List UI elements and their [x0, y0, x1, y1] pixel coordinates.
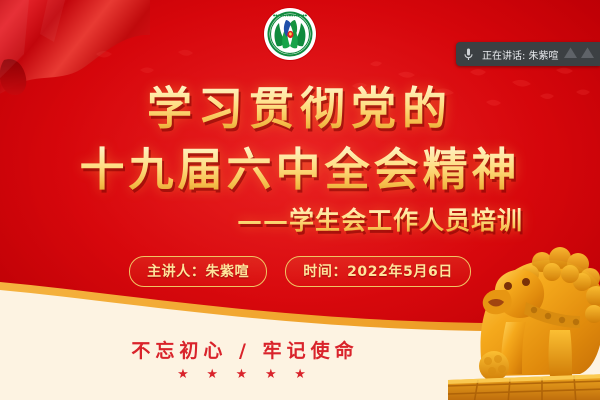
microphone-icon	[456, 48, 480, 61]
school-emblem-logo: ●●●●●●●●●●●●●●● 2002	[262, 6, 318, 62]
speaking-label: 正在讲话: 朱紫喧	[480, 47, 563, 62]
svg-text:●●●●●●●●●●●●●●●: ●●●●●●●●●●●●●●●	[273, 14, 308, 17]
svg-text:2002: 2002	[286, 52, 295, 56]
speaker-pill: 主讲人：朱紫喧	[129, 256, 267, 287]
active-speaker-overlay[interactable]: 正在讲话: 朱紫喧	[456, 42, 600, 66]
date-pill: 时间：2022年5月6日	[285, 256, 471, 287]
slogan-block: 不忘初心 / 牢记使命 ★ ★ ★ ★ ★	[0, 336, 600, 381]
mountain-placeholder-icon	[563, 46, 578, 59]
mountain-placeholder-icon	[580, 46, 595, 59]
info-pill-row: 主讲人：朱紫喧 时间：2022年5月6日	[0, 256, 600, 287]
slide-stage: ●●●●●●●●●●●●●●● 2002	[0, 0, 600, 400]
participant-thumbnails[interactable]	[563, 46, 600, 62]
star-row: ★ ★ ★ ★ ★	[0, 367, 490, 381]
slogan-text: 不忘初心 / 牢记使命	[0, 336, 490, 363]
